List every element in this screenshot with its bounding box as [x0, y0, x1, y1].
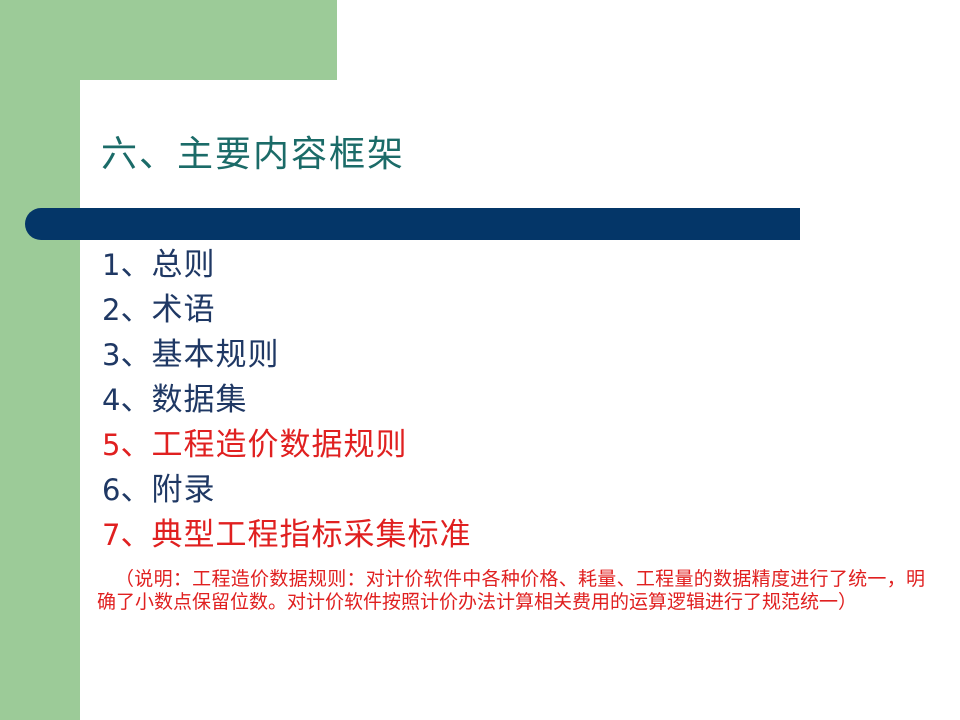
- list-item-separator: 、: [120, 472, 151, 508]
- list-item-label: 工程造价数据规则: [151, 427, 407, 463]
- list-item-label: 总则: [151, 247, 215, 283]
- list-item: 7、典型工程指标采集标准: [102, 513, 902, 558]
- list-item-label: 术语: [151, 292, 215, 328]
- list-item: 4、数据集: [102, 378, 902, 423]
- green-left-strip-decoration: [0, 0, 80, 720]
- list-item-number: 3: [102, 338, 120, 372]
- list-item-number: 6: [102, 473, 120, 507]
- list-item-separator: 、: [120, 517, 151, 553]
- explanatory-note: （说明：工程造价数据规则：对计价软件中各种价格、耗量、工程量的数据精度进行了统一…: [97, 568, 925, 614]
- list-item-separator: 、: [120, 337, 151, 373]
- list-item: 1、总则: [102, 243, 902, 288]
- list-item-number: 1: [102, 248, 120, 282]
- list-item: 5、工程造价数据规则: [102, 423, 902, 468]
- list-item-separator: 、: [120, 382, 151, 418]
- list-item-number: 5: [102, 428, 120, 462]
- list-item-number: 2: [102, 293, 120, 327]
- list-item-number: 7: [102, 518, 120, 552]
- list-item-number: 4: [102, 383, 120, 417]
- list-item: 3、基本规则: [102, 333, 902, 378]
- blue-title-underline-bar: [25, 208, 800, 240]
- list-item: 2、术语: [102, 288, 902, 333]
- slide-canvas: 六、主要内容框架 1、总则 2、术语 3、基本规则 4、数据集 5、工程造价数据…: [0, 0, 960, 720]
- list-item-label: 典型工程指标采集标准: [151, 517, 471, 553]
- list-item-separator: 、: [120, 247, 151, 283]
- list-item-separator: 、: [120, 292, 151, 328]
- outline-list: 1、总则 2、术语 3、基本规则 4、数据集 5、工程造价数据规则 6、附录 7…: [102, 243, 902, 558]
- list-item-label: 基本规则: [151, 337, 279, 373]
- slide-title: 六、主要内容框架: [101, 132, 405, 178]
- list-item-separator: 、: [120, 427, 151, 463]
- list-item-label: 附录: [151, 472, 215, 508]
- list-item: 6、附录: [102, 468, 902, 513]
- list-item-label: 数据集: [151, 382, 247, 418]
- green-top-block-decoration: [0, 0, 337, 80]
